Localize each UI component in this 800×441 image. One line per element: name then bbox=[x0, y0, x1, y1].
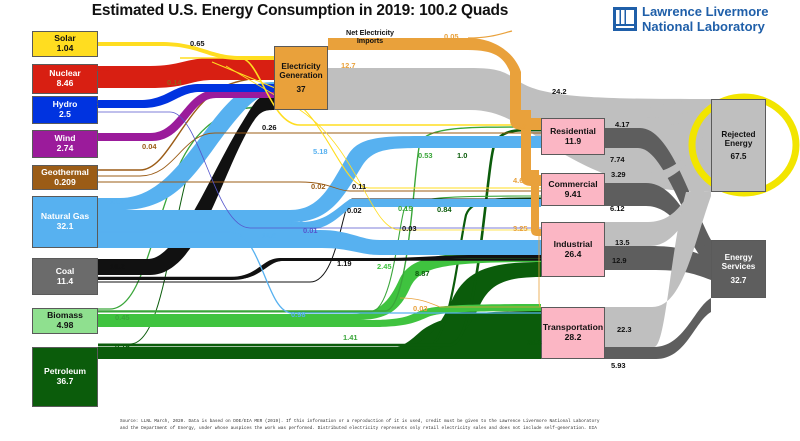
node-value-elec_gen: 37 bbox=[296, 85, 305, 94]
flow-label-natural_gas-transportation: 0.98 bbox=[291, 310, 306, 319]
node-nuclear: Nuclear8.46 bbox=[32, 64, 98, 94]
flow-label-coal-commercial: 0.02 bbox=[347, 206, 362, 215]
flow-label-transportation-energy_svc: 5.93 bbox=[611, 361, 626, 370]
node-value-transportation: 28.2 bbox=[565, 333, 582, 343]
flow-label-petroleum-commercial: 0.84 bbox=[437, 205, 452, 214]
node-value-solar: 1.04 bbox=[57, 44, 74, 54]
nei-line2: Imports bbox=[326, 37, 414, 45]
node-solar: Solar1.04 bbox=[32, 31, 98, 57]
flow-label-natural_gas-industrial: 10.6 bbox=[262, 231, 277, 240]
flow-label-geothermal-commercial: 0.02 bbox=[311, 182, 326, 191]
node-biomass: Biomass4.98 bbox=[32, 308, 98, 334]
node-energy_svc: EnergyServices32.7 bbox=[711, 240, 766, 298]
flow-label-coal-industrial: 1.19 bbox=[337, 259, 352, 268]
flow-label-elec_gen-industrial: 3.25 bbox=[513, 224, 528, 233]
flow-label-hydro-industrial: 0.01 bbox=[303, 226, 318, 235]
node-value-hydro: 2.5 bbox=[59, 110, 71, 120]
footnote-line2: and the Department of Energy, under whos… bbox=[120, 426, 780, 433]
flow-label-industrial-energy_svc: 12.9 bbox=[612, 256, 627, 265]
flow-label-petroleum-residential: 1.0 bbox=[457, 151, 467, 160]
node-value-biomass: 4.98 bbox=[57, 321, 74, 331]
flow-label-solar-commercial: 0.11 bbox=[352, 182, 366, 191]
flow-label-elec_gen-rejected: 24.2 bbox=[552, 87, 567, 96]
flow-label-industrial-rejected: 13.5 bbox=[615, 238, 630, 247]
sankey-flows bbox=[0, 0, 800, 441]
flow-label-nuclear-elec_gen: 8.46 bbox=[95, 64, 110, 73]
flow-nuclear-elecgen bbox=[98, 58, 274, 88]
flow-label-coal-elec_gen: 10.2 bbox=[110, 262, 125, 271]
flow-label-imports-elec_gen: 0.05 bbox=[444, 32, 459, 41]
node-hydro: Hydro2.5 bbox=[32, 96, 98, 124]
node-label-energy_svc: EnergyServices bbox=[722, 253, 756, 271]
node-value-geothermal: 0.209 bbox=[54, 178, 76, 188]
node-label-rejected: RejectedEnergy bbox=[721, 130, 755, 148]
node-commercial: Commercial9.41 bbox=[541, 173, 605, 206]
node-transportation: Transportation28.2 bbox=[541, 307, 605, 359]
flow-label-biomass-elec_gen: 0.45 bbox=[115, 313, 130, 322]
flow-label-biomass-transportation: 1.41 bbox=[343, 333, 358, 342]
flow-label-biomass-commercial: 0.15 bbox=[398, 204, 413, 213]
node-geothermal: Geothermal0.209 bbox=[32, 165, 98, 190]
flow-label-residential-rejected: 4.17 bbox=[615, 120, 630, 129]
footnote-line1: Source: LLNL March, 2020. Data is based … bbox=[120, 419, 780, 426]
flow-label-solar-residential: 0.26 bbox=[262, 123, 277, 132]
flow-label-natural_gas-residential: 5.18 bbox=[313, 147, 328, 156]
flow-label-natural_gas-commercial: 3.65 bbox=[289, 218, 304, 227]
flow-label-petroleum-elec_gen: 0.19 bbox=[115, 342, 130, 351]
flow-label-geothermal-residential: 0.04 bbox=[142, 142, 157, 151]
flow-label-petroleum-industrial: 8.87 bbox=[415, 269, 430, 278]
flow-label-elec_gen-transportation: 0.03 bbox=[413, 304, 428, 313]
flow-label-solar-industrial: 0.03 bbox=[402, 224, 417, 233]
flow-label-commercial-rejected: 3.29 bbox=[611, 170, 626, 179]
net-electricity-imports-label: Net Electricity Imports bbox=[326, 29, 414, 46]
node-value-nuclear: 8.46 bbox=[57, 79, 74, 89]
flow-label-biomass-residential: 0.53 bbox=[418, 151, 433, 160]
node-value-petroleum: 36.7 bbox=[57, 377, 74, 387]
node-natural_gas: Natural Gas32.1 bbox=[32, 196, 98, 248]
node-petroleum: Petroleum36.7 bbox=[32, 347, 98, 407]
node-value-natural_gas: 32.1 bbox=[57, 222, 74, 232]
node-rejected: RejectedEnergy67.5 bbox=[711, 99, 766, 192]
node-value-energy_svc: 32.7 bbox=[731, 276, 747, 285]
flow-label-biomass-industrial: 2.45 bbox=[377, 262, 392, 271]
node-label-elec_gen: ElectricityGeneration bbox=[279, 62, 322, 80]
source-footnote: Source: LLNL March, 2020. Data is based … bbox=[120, 419, 780, 433]
flow-label-solar-elec_gen: 0.65 bbox=[190, 39, 205, 48]
node-value-wind: 2.74 bbox=[57, 144, 74, 154]
flow-label-natural_gas-elec_gen: 11.7 bbox=[110, 197, 124, 206]
node-value-industrial: 26.4 bbox=[565, 250, 582, 260]
flow-label-geothermal-elec_gen: 0.14 bbox=[167, 78, 182, 87]
node-value-residential: 11.9 bbox=[565, 137, 581, 147]
node-residential: Residential11.9 bbox=[541, 118, 605, 155]
node-value-commercial: 9.41 bbox=[565, 190, 582, 200]
flow-label-residential-energy_svc: 7.74 bbox=[610, 155, 625, 164]
node-industrial: Industrial26.4 bbox=[541, 222, 605, 277]
flow-label-petroleum-transportation: 25.8 bbox=[527, 338, 542, 347]
flow-label-transportation-rejected: 22.3 bbox=[617, 325, 632, 334]
flow-label-commercial-energy_svc: 6.12 bbox=[610, 204, 625, 213]
flow-label-hydro-elec_gen: 2.48 bbox=[94, 99, 109, 108]
node-value-rejected: 67.5 bbox=[731, 152, 747, 161]
flow-net-electricity-imports bbox=[468, 31, 512, 38]
flow-label-wind-elec_gen: 2.73 bbox=[92, 134, 107, 143]
flow-label-elec_gen-commercial: 4.62 bbox=[513, 176, 528, 185]
node-wind: Wind2.74 bbox=[32, 130, 98, 158]
flow-label-elec_gen-residential: 4.9 bbox=[516, 122, 526, 131]
sankey-diagram-page: Estimated U.S. Energy Consumption in 201… bbox=[0, 0, 800, 441]
node-coal: Coal11.4 bbox=[32, 258, 98, 295]
flow-label-elec_gen-distributed: 12.7 bbox=[341, 61, 356, 70]
node-elec_gen: ElectricityGeneration37 bbox=[274, 46, 328, 110]
node-value-coal: 11.4 bbox=[57, 277, 73, 287]
